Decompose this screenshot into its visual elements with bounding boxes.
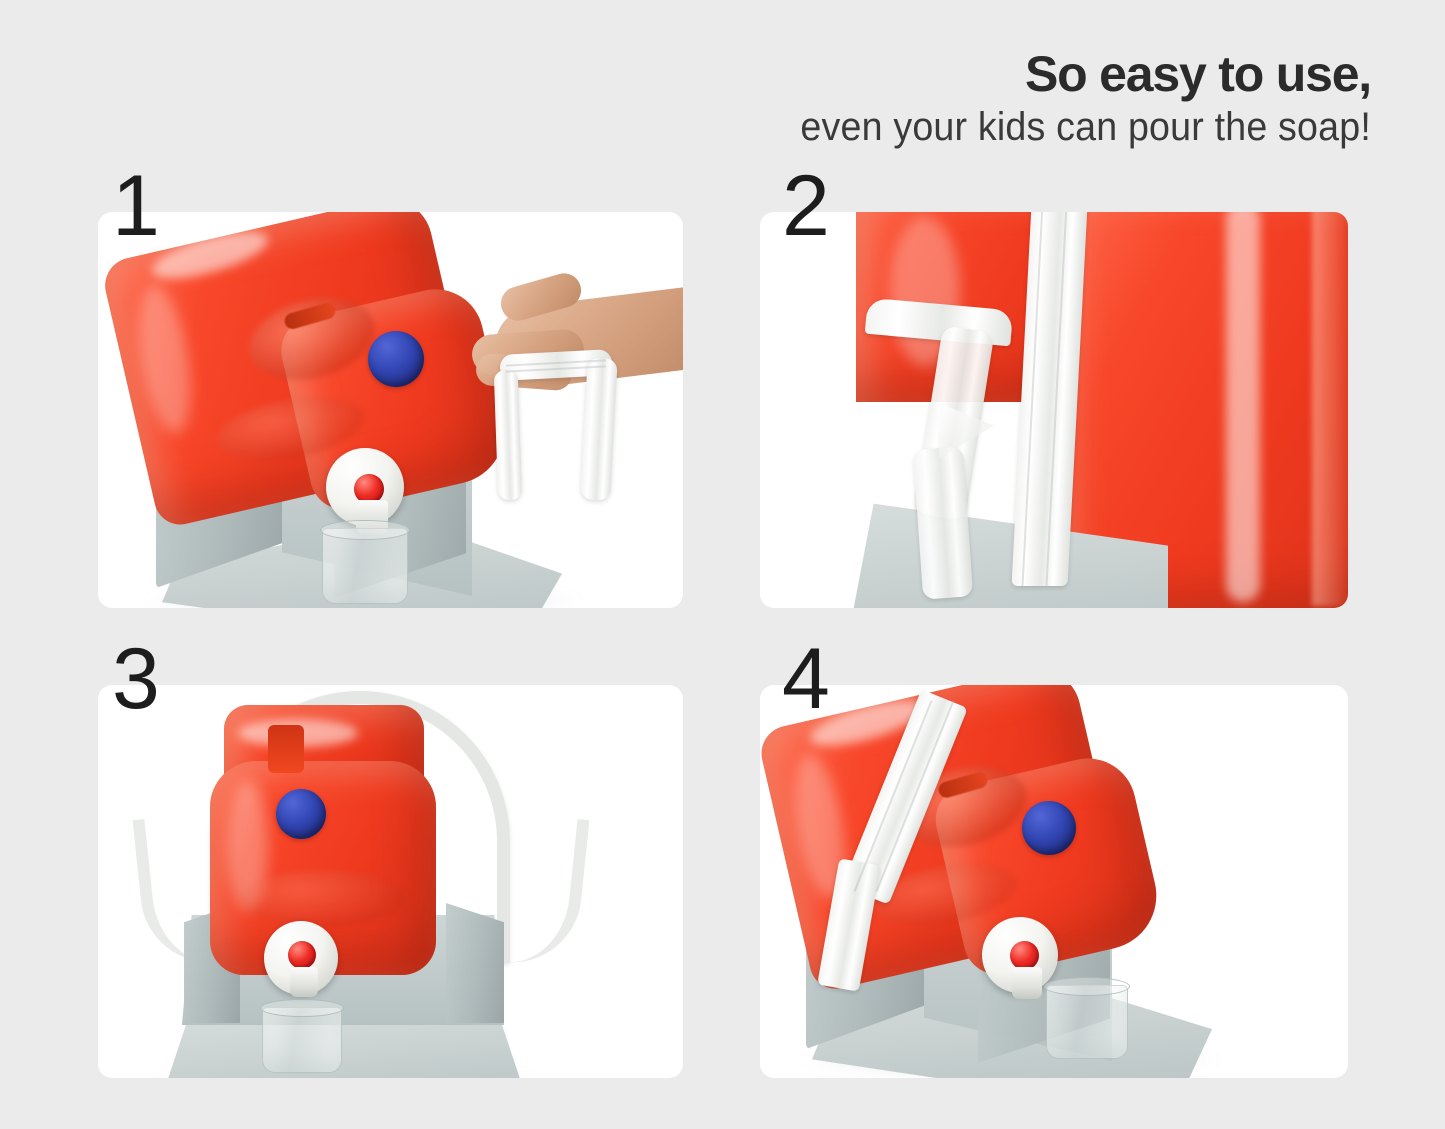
step-number-2: 2 (782, 163, 830, 249)
headline-primary: So easy to use, (764, 44, 1371, 104)
headline-secondary: even your kids can pour the soap! (800, 104, 1371, 150)
jug-edge-highlight (1312, 212, 1348, 606)
blue-cap-icon (1022, 801, 1076, 855)
step-card-4 (760, 685, 1348, 1078)
spout-nozzle (290, 967, 318, 997)
red-valve-button (288, 941, 316, 969)
step-1-illustration (98, 212, 683, 608)
step-3-illustration (98, 685, 683, 1078)
step-card-1 (98, 212, 683, 608)
jug-lower-dent (240, 871, 406, 927)
spout-nozzle (1012, 967, 1042, 999)
measuring-cup-rim (320, 520, 410, 540)
jug-handle-groove (268, 725, 304, 773)
tray-right-side (446, 903, 504, 1023)
step-number-4: 4 (782, 636, 830, 722)
measuring-cup-rim (1044, 977, 1130, 996)
strap-tail-end (913, 446, 973, 599)
blue-cap-icon (276, 789, 326, 839)
strap-left-leg (494, 370, 523, 501)
infographic-canvas: So easy to use, even your kids can pour … (0, 0, 1445, 1129)
measuring-cup (1046, 985, 1128, 1059)
step-card-2 (760, 212, 1348, 608)
step-4-illustration (760, 685, 1348, 1078)
measuring-cup-rim (260, 999, 344, 1017)
red-valve-button (1010, 941, 1039, 970)
blue-cap-icon (368, 331, 424, 387)
step-number-1: 1 (112, 163, 160, 249)
step-card-3 (98, 685, 683, 1078)
headline-block: So easy to use, even your kids can pour … (764, 44, 1371, 150)
step-number-3: 3 (112, 636, 160, 722)
step-2-illustration (760, 212, 1348, 608)
strap-right-leg (580, 357, 617, 500)
jug-vertical-highlight (1226, 212, 1260, 602)
